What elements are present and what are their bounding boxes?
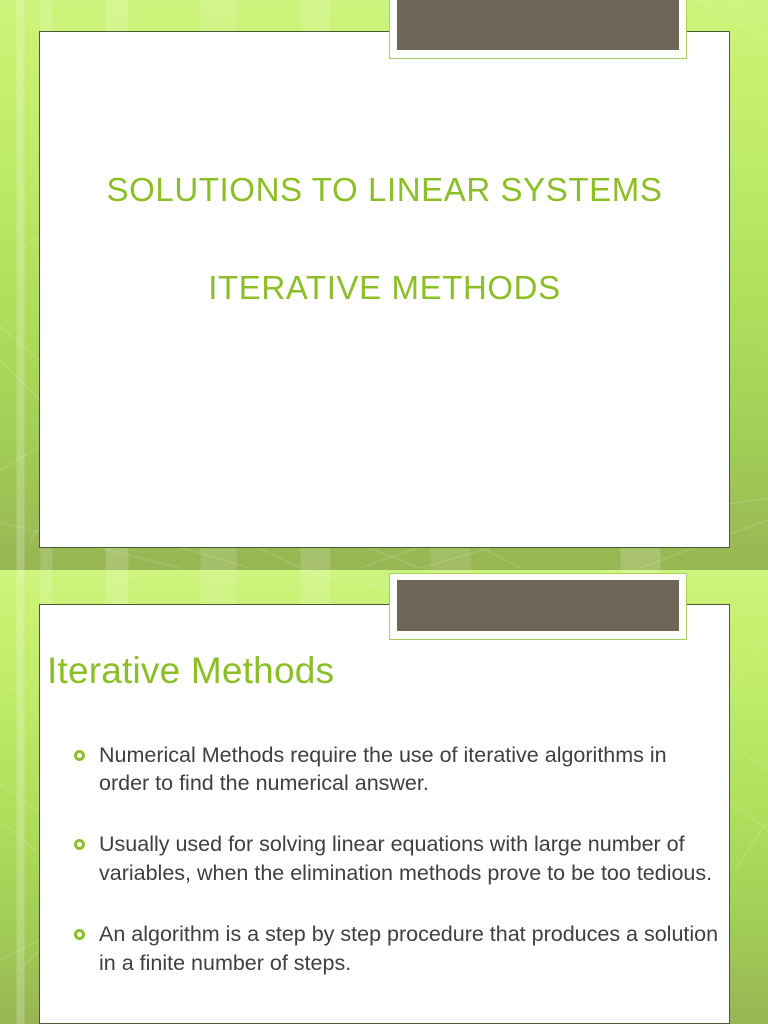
- list-item: Usually used for solving linear equation…: [69, 830, 722, 887]
- bullet-text: Usually used for solving linear equation…: [99, 830, 722, 887]
- slide-1-title-line-2: ITERATIVE METHODS: [39, 268, 730, 308]
- slide-1-title[interactable]: SOLUTIONS TO LINEAR SYSTEMS ITERATIVE ME…: [0, 0, 768, 570]
- slide-2-content[interactable]: Iterative Methods Numerical Methods requ…: [0, 570, 768, 1024]
- slide-1-title-line-1: SOLUTIONS TO LINEAR SYSTEMS: [39, 170, 730, 210]
- taupe-fill: [397, 0, 679, 50]
- ring-bullet-icon: [74, 929, 85, 940]
- presentation-viewer[interactable]: SOLUTIONS TO LINEAR SYSTEMS ITERATIVE ME…: [0, 0, 768, 1024]
- ring-bullet-icon: [74, 750, 85, 761]
- slide-2-bullet-list: Numerical Methods require the use of ite…: [39, 741, 730, 977]
- slide-1-decorative-taupe-banner: [389, 0, 687, 59]
- list-item: An algorithm is a step by step procedure…: [69, 920, 722, 977]
- list-item: Numerical Methods require the use of ite…: [69, 741, 722, 798]
- slide-2-heading: Iterative Methods: [47, 651, 730, 692]
- ring-bullet-icon: [74, 839, 85, 850]
- slide-2-content-area: Iterative Methods Numerical Methods requ…: [39, 604, 730, 1024]
- bullet-text: An algorithm is a step by step procedure…: [99, 920, 722, 977]
- slide-1-title-block: SOLUTIONS TO LINEAR SYSTEMS ITERATIVE ME…: [39, 170, 730, 309]
- bullet-text: Numerical Methods require the use of ite…: [99, 741, 722, 798]
